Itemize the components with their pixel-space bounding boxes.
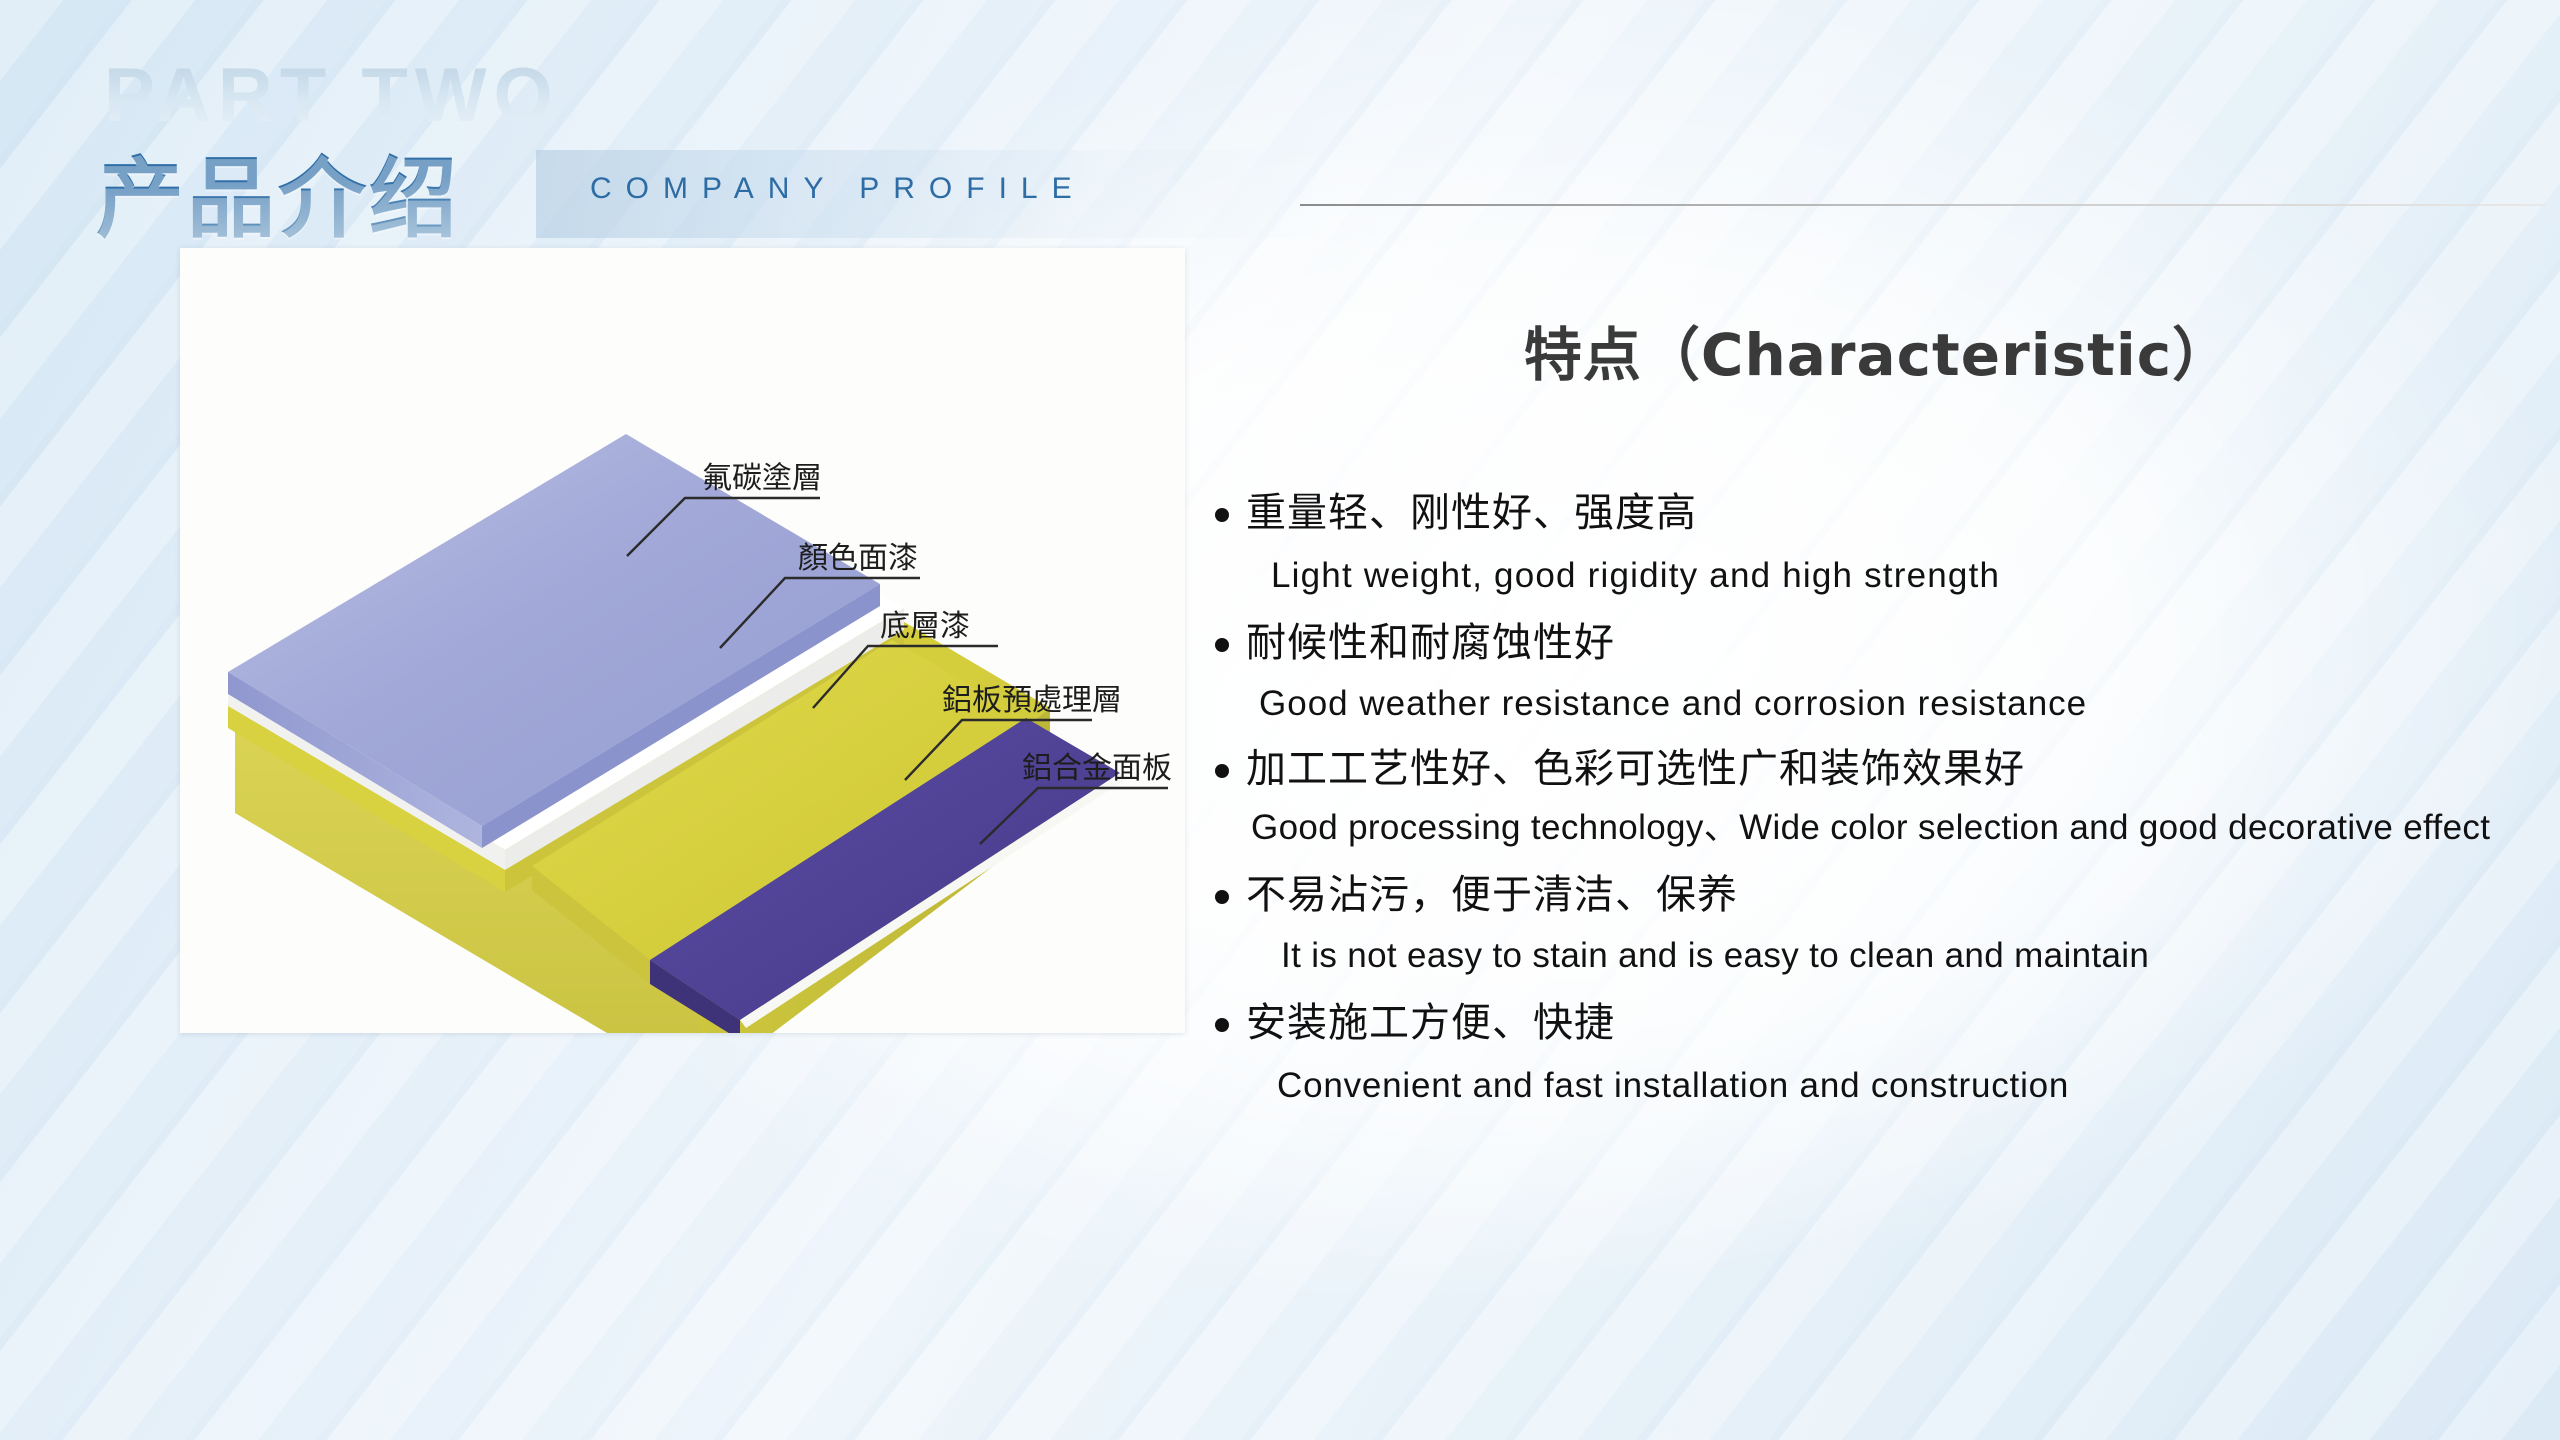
feature-list: 重量轻、刚性好、强度高 Light weight, good rigidity … <box>1215 490 2545 1107</box>
feature-cn-text: 重量轻、刚性好、强度高 <box>1246 490 1697 537</box>
feature-cn-row: 耐候性和耐腐蚀性好 <box>1215 620 2545 667</box>
characteristic-column: 特点（Characteristic） <box>1195 280 2560 392</box>
list-item: 安装施工方便、快捷 Convenient and fast installati… <box>1215 1000 2545 1108</box>
feature-en-text: Convenient and fast installation and con… <box>1277 1065 2545 1108</box>
feature-en-text: It is not easy to stain and is easy to c… <box>1281 935 2545 978</box>
aluminum-composite-panel-layer-diagram: 氟碳塗層 顏色面漆 底層漆 鋁板預處理層 鋁合金面板 <box>180 248 1185 1033</box>
list-item: 加工工艺性好、色彩可选性广和装饰效果好 Good processing tech… <box>1215 746 2545 850</box>
header-divider-rule <box>1300 204 2545 206</box>
list-item: 耐候性和耐腐蚀性好 Good weather resistance and co… <box>1215 620 2545 726</box>
feature-cn-row: 重量轻、刚性好、强度高 <box>1215 490 2545 537</box>
characteristic-heading: 特点（Characteristic） <box>1195 308 2560 392</box>
feature-en-text: Good weather resistance and corrosion re… <box>1259 683 2545 726</box>
callout-label-1: 顏色面漆 <box>798 541 918 576</box>
feature-en-text: Good processing technology、Wide color se… <box>1251 807 2545 850</box>
bullet-icon <box>1215 764 1229 778</box>
feature-cn-text: 安装施工方便、快捷 <box>1246 1000 1615 1047</box>
feature-cn-row: 安装施工方便、快捷 <box>1215 1000 2545 1047</box>
page-title: 产品介绍 <box>96 128 460 255</box>
slide-header: PART TWO 产品介绍 COMPANY PROFILE <box>0 0 2560 250</box>
bullet-icon <box>1215 638 1229 652</box>
callout-label-0: 氟碳塗層 <box>702 461 822 496</box>
page-subtitle: COMPANY PROFILE <box>590 172 1086 206</box>
callout-label-2: 底層漆 <box>880 609 970 644</box>
part-label-watermark: PART TWO <box>104 52 560 139</box>
feature-cn-text: 不易沾污，便于清洁、保养 <box>1246 872 1738 919</box>
structure-diagram-card: 氟碳塗層 顏色面漆 底層漆 鋁板預處理層 鋁合金面板 <box>180 248 1185 1033</box>
list-item: 不易沾污，便于清洁、保养 It is not easy to stain and… <box>1215 872 2545 978</box>
bullet-icon <box>1215 1018 1229 1032</box>
callout-label-4: 鋁合金面板 <box>1022 751 1172 786</box>
feature-cn-row: 加工工艺性好、色彩可选性广和装饰效果好 <box>1215 746 2545 793</box>
bullet-icon <box>1215 890 1229 904</box>
callout-label-3: 鋁板預處理層 <box>942 683 1122 718</box>
list-item: 重量轻、刚性好、强度高 Light weight, good rigidity … <box>1215 490 2545 598</box>
feature-cn-text: 加工工艺性好、色彩可选性广和装饰效果好 <box>1246 746 2025 793</box>
feature-en-text: Light weight, good rigidity and high str… <box>1271 555 2545 598</box>
bullet-icon <box>1215 508 1229 522</box>
feature-cn-row: 不易沾污，便于清洁、保养 <box>1215 872 2545 919</box>
feature-cn-text: 耐候性和耐腐蚀性好 <box>1246 620 1615 667</box>
